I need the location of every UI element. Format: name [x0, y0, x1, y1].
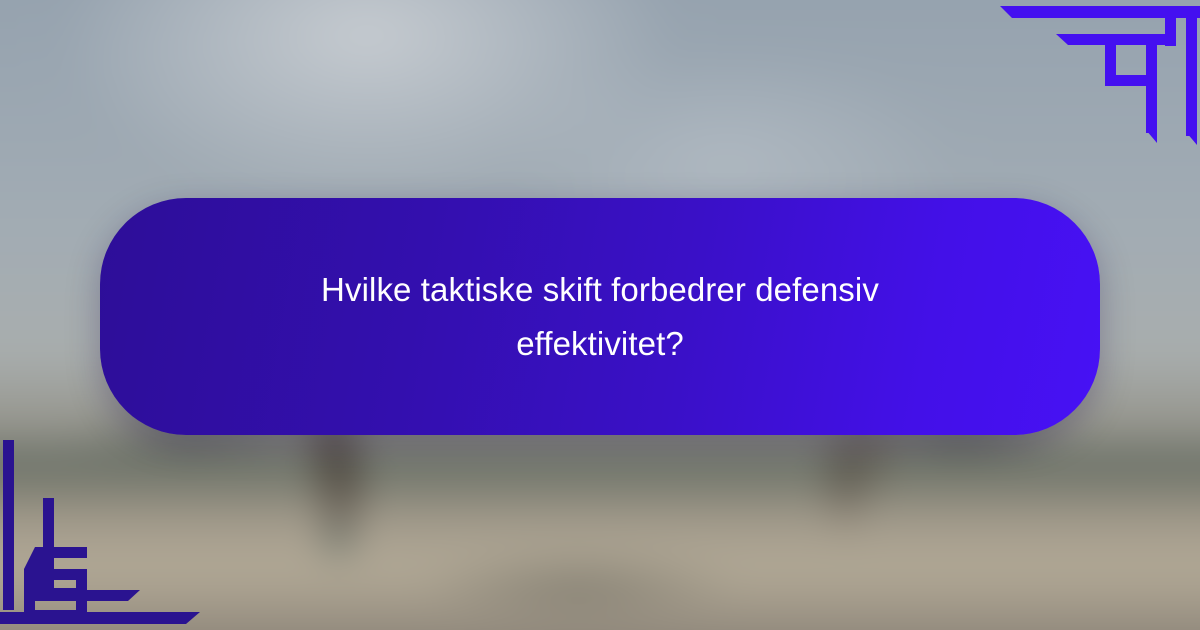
quote-card: Hvilke taktiske skift forbedrer defensiv… [100, 198, 1100, 435]
graphic-canvas: Hvilke taktiske skift forbedrer defensiv… [0, 0, 1200, 630]
quote-text: Hvilke taktiske skift forbedrer defensiv… [250, 263, 950, 370]
